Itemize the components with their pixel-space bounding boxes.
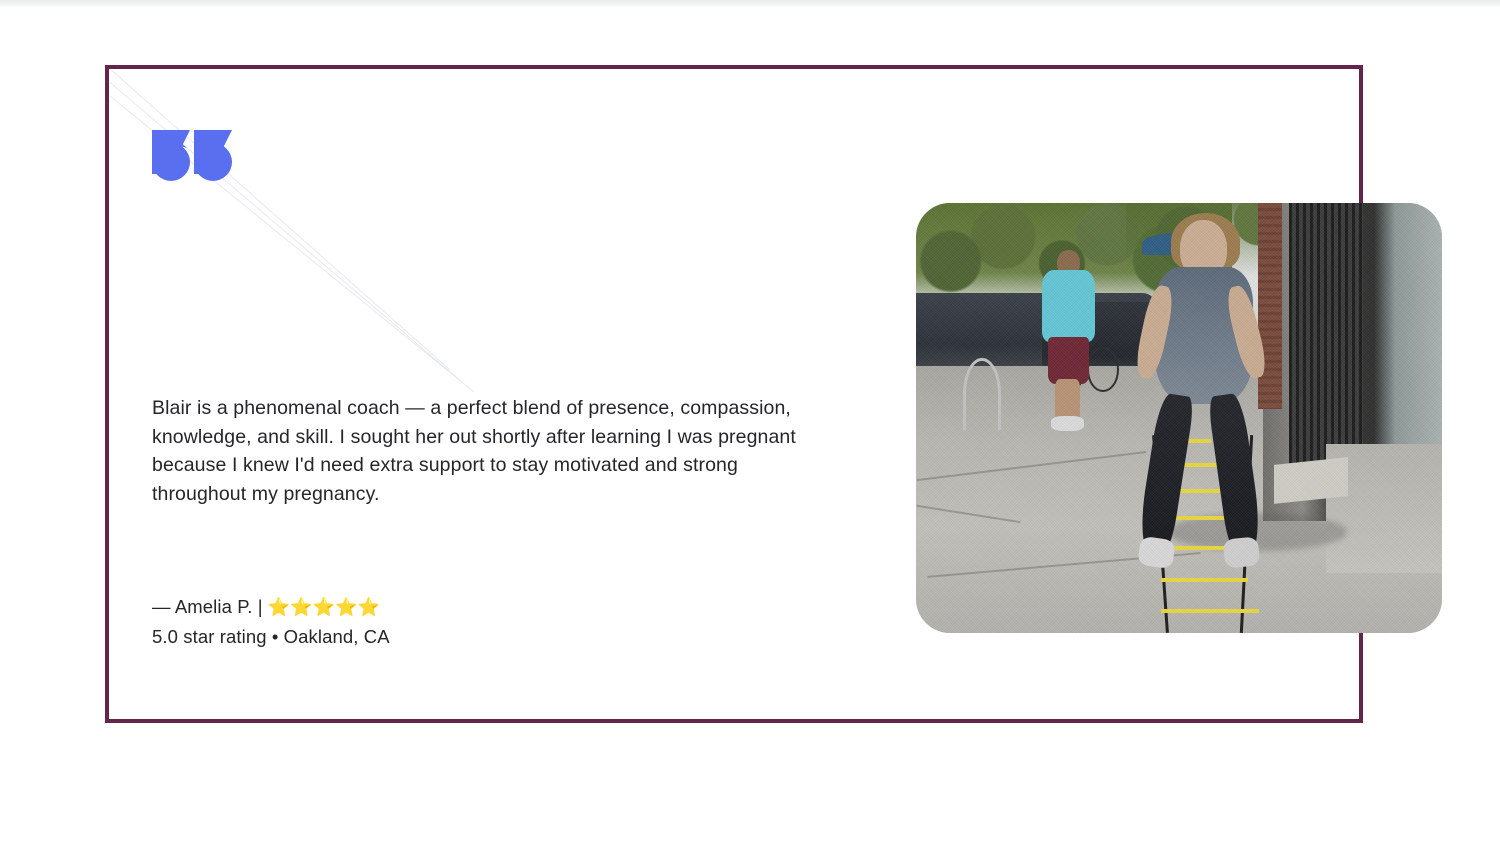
photo-person-shoe <box>1223 536 1261 568</box>
photo-person-shoe <box>1137 536 1175 569</box>
testimonial-text: Blair is a phenomenal coach — a perfect … <box>152 394 832 508</box>
photo-background-person <box>1037 250 1100 431</box>
attribution-detail: 5.0 star rating • Oakland, CA <box>152 622 752 652</box>
photo-iron-gate <box>1289 203 1363 470</box>
star-rating-icons: ⭐⭐⭐⭐⭐ <box>268 592 380 622</box>
attribution-author-line: — Amelia P. | ⭐⭐⭐⭐⭐ <box>152 592 752 622</box>
double-quote-icon <box>150 104 246 200</box>
attribution-author: — Amelia P. | <box>152 592 268 622</box>
photo-person-shoe <box>1051 416 1084 430</box>
photo-person-legs <box>1055 379 1080 422</box>
testimonial-slide: Blair is a phenomenal coach — a perfect … <box>0 0 1500 844</box>
photo-bike-rack <box>963 358 1001 430</box>
photo-foreground-person <box>1126 220 1284 581</box>
testimonial-attribution: — Amelia P. | ⭐⭐⭐⭐⭐ 5.0 star rating • Oa… <box>152 592 752 652</box>
card-content: Blair is a phenomenal coach — a perfect … <box>0 0 1500 844</box>
testimonial-photo <box>916 203 1442 633</box>
photo-ladder-rung <box>1161 609 1259 613</box>
photo-person-shirt <box>1042 270 1095 342</box>
photo-person-leg <box>1136 392 1195 554</box>
photo-person-shorts <box>1048 337 1088 384</box>
photo-person-leg <box>1207 392 1263 554</box>
photo-scene <box>916 203 1442 633</box>
